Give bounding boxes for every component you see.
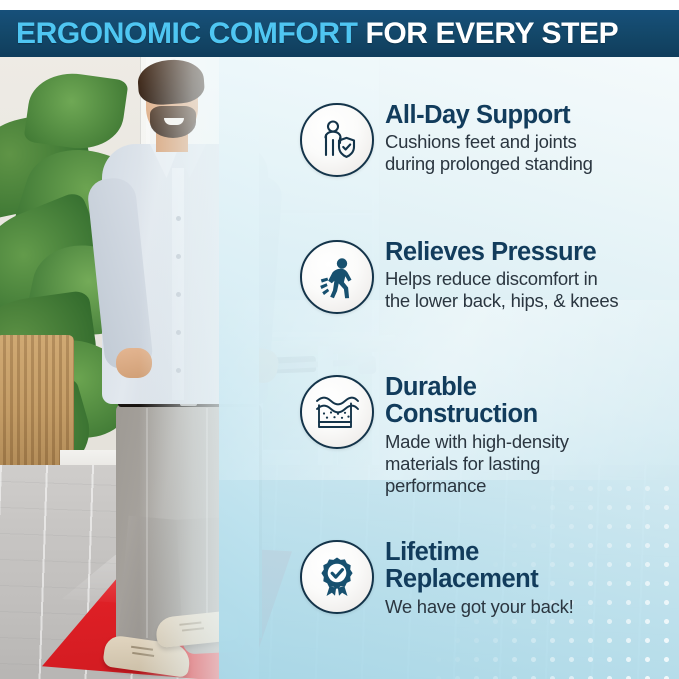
infographic-canvas: ERGONOMIC COMFORT FOR EVERY STEP All-Day… [0,0,679,679]
feature-desc-line: during prolonged standing [385,153,593,175]
back-pain-person-icon [300,240,374,314]
feature-item-all-day-support[interactable]: All-Day Support Cushions feet and joints… [297,100,593,176]
feature-desc-line: performance [385,475,615,497]
feature-title: All-Day Support [385,102,593,129]
header-title-accent: ERGONOMIC COMFORT [16,17,358,50]
feature-text: All-Day Support Cushions feet and joints… [385,100,593,176]
feature-title: Durable Construction [385,374,615,429]
award-badge-check-icon [300,540,374,614]
feature-icon-wrap [297,537,373,613]
feature-item-lifetime-replacement[interactable]: Lifetime Replacement We have got your ba… [297,537,635,618]
foam-layers-icon [300,375,374,449]
header-banner: ERGONOMIC COMFORT FOR EVERY STEP [0,10,679,57]
feature-text: Lifetime Replacement We have got your ba… [385,537,635,618]
feature-title: Lifetime Replacement [385,539,635,594]
feature-icon-wrap [297,372,373,448]
header-title: ERGONOMIC COMFORT FOR EVERY STEP [0,19,618,49]
feature-desc-line: Made with high-density [385,431,615,453]
feature-text: Durable Construction Made with high-dens… [385,372,615,497]
person-shield-icon [300,103,374,177]
feature-icon-wrap [297,100,373,176]
feature-item-relieves-pressure[interactable]: Relieves Pressure Helps reduce discomfor… [297,237,618,313]
feature-desc-line: Helps reduce discomfort in [385,268,618,290]
feature-item-durable-construction[interactable]: Durable Construction Made with high-dens… [297,372,615,497]
feature-desc-line: Cushions feet and joints [385,131,593,153]
top-white-strip [0,0,679,10]
header-title-rest: FOR EVERY STEP [358,17,619,50]
feature-desc-line: We have got your back! [385,596,635,618]
feature-title: Relieves Pressure [385,239,618,266]
feature-text: Relieves Pressure Helps reduce discomfor… [385,237,618,313]
feature-desc-line: the lower back, hips, & knees [385,290,618,312]
feature-icon-wrap [297,237,373,313]
feature-list: All-Day Support Cushions feet and joints… [297,92,679,672]
feature-desc-line: materials for lasting [385,453,615,475]
